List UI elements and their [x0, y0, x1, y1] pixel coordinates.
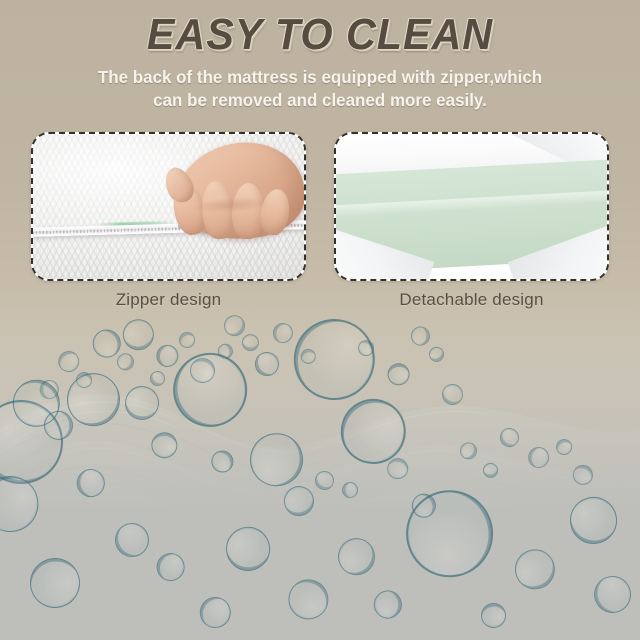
bubble [292, 316, 378, 402]
bubble [116, 353, 135, 372]
bubble [440, 382, 464, 406]
hand-illustration [160, 143, 306, 263]
bubble [553, 436, 575, 458]
subtitle-line-1: The back of the mattress is equipped wit… [10, 66, 631, 89]
wave-bubble-scene [0, 280, 640, 640]
header: EASY TO CLEAN The back of the mattress i… [0, 0, 640, 112]
bubble [426, 345, 446, 365]
bubble [116, 313, 160, 357]
bubble [120, 382, 164, 426]
bubble [20, 548, 90, 618]
bubble [152, 342, 182, 372]
bubble [499, 426, 521, 448]
bubble [0, 473, 42, 536]
bubble [564, 491, 623, 550]
bubble [480, 460, 501, 481]
bubble [586, 568, 638, 620]
bubble [251, 348, 282, 379]
bubble [239, 330, 263, 354]
bubble [459, 441, 477, 459]
bubble [146, 427, 182, 463]
bubble [176, 330, 198, 352]
bubble [55, 349, 81, 375]
bubble [315, 471, 334, 490]
detachable-photo-frame [334, 132, 609, 281]
bubble [382, 359, 414, 391]
bubble [244, 427, 308, 491]
bubble-layer [0, 280, 640, 640]
bubble [223, 314, 246, 337]
bubble [110, 518, 155, 563]
bubble [199, 596, 231, 628]
subtitle: The back of the mattress is equipped wit… [10, 66, 631, 112]
bubble [339, 479, 361, 501]
bubble [525, 443, 553, 471]
subtitle-line-2: can be removed and cleaned more easily. [10, 89, 631, 112]
bubble [287, 578, 329, 620]
bubble [154, 551, 187, 584]
bubble [270, 321, 294, 345]
bubble [408, 324, 433, 349]
zipper-photo-frame [31, 132, 306, 281]
page-title: EASY TO CLEAN [19, 13, 621, 57]
poster-root: EASY TO CLEAN The back of the mattress i… [0, 0, 640, 640]
bubble [476, 598, 511, 633]
bubble [149, 370, 166, 387]
bubble [369, 586, 407, 624]
bubble [388, 472, 511, 595]
bubble [71, 463, 110, 502]
bubble [572, 464, 594, 486]
bubble [510, 543, 561, 594]
bubble [218, 520, 277, 579]
bubble [207, 446, 236, 475]
bubble [335, 535, 377, 577]
bubble [277, 479, 319, 521]
